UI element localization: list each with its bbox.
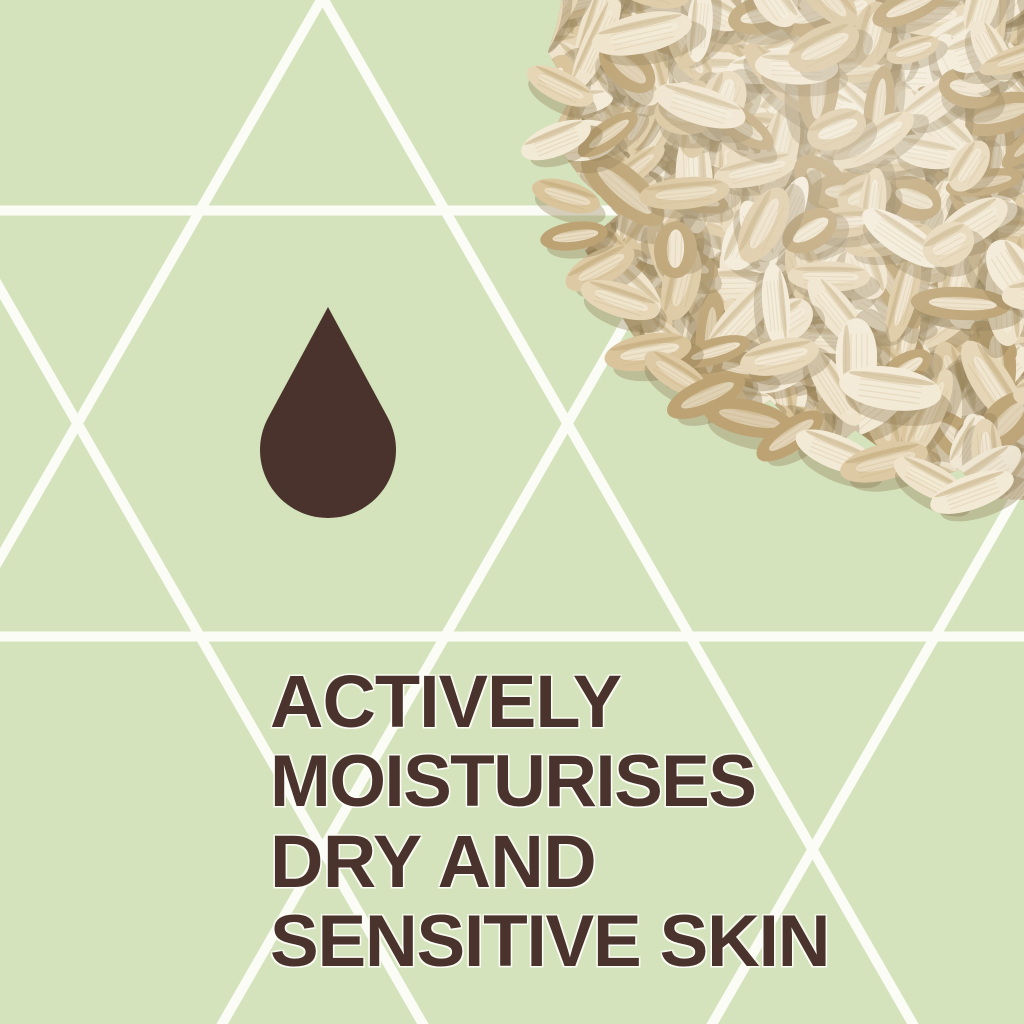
headline-block: ACTIVELY MOISTURISES DRY AND SENSITIVE S…	[270, 662, 970, 982]
headline-line-2: MOISTURISES	[270, 742, 970, 822]
product-feature-banner: ACTIVELY MOISTURISES DRY AND SENSITIVE S…	[0, 0, 1024, 1024]
headline-line-4: SENSITIVE SKIN	[270, 902, 970, 982]
headline-line-3: DRY AND	[270, 822, 970, 902]
headline-line-1: ACTIVELY	[270, 662, 970, 742]
